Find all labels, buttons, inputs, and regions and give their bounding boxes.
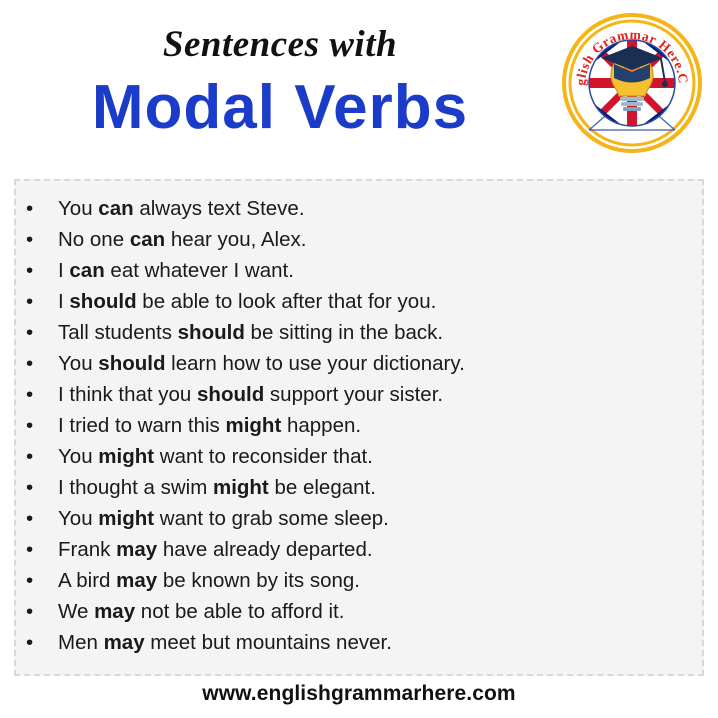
page-title-line2: Modal Verbs xyxy=(0,75,560,140)
sentence-prefix: You xyxy=(58,445,98,468)
sentence-prefix: I thought a swim xyxy=(58,476,213,499)
bullet-icon: • xyxy=(26,503,33,534)
sentence-prefix: I tried to warn this xyxy=(58,414,225,437)
list-item: •You might want to reconsider that. xyxy=(16,441,702,472)
bullet-icon: • xyxy=(26,441,33,472)
bullet-icon: • xyxy=(26,317,33,348)
sentence-suffix: be known by its song. xyxy=(157,569,360,592)
sentence-prefix: No one xyxy=(58,228,130,251)
modal-verb-keyword: should xyxy=(197,383,264,406)
list-item: •Frank may have already departed. xyxy=(16,534,702,565)
list-item: •You can always text Steve. xyxy=(16,193,702,224)
modal-verb-keyword: can xyxy=(130,228,165,251)
sentence-prefix: We xyxy=(58,600,94,623)
bullet-icon: • xyxy=(26,224,33,255)
logo-svg: English Grammar Here.Com xyxy=(561,12,703,154)
modal-verb-keyword: might xyxy=(98,507,154,530)
bullet-icon: • xyxy=(26,255,33,286)
modal-verb-keyword: may xyxy=(94,600,135,623)
sentence-suffix: be able to look after that for you. xyxy=(137,290,437,313)
list-item: •You might want to grab some sleep. xyxy=(16,503,702,534)
modal-verb-keyword: might xyxy=(213,476,269,499)
sentence-suffix: happen. xyxy=(281,414,361,437)
modal-verb-keyword: may xyxy=(116,538,157,561)
list-item: •Men may meet but mountains never. xyxy=(16,627,702,658)
list-item: •No one can hear you, Alex. xyxy=(16,224,702,255)
sentence-list: •You can always text Steve.•No one can h… xyxy=(16,181,702,658)
bullet-icon: • xyxy=(26,627,33,658)
sentences-panel: •You can always text Steve.•No one can h… xyxy=(14,179,704,676)
sentence-suffix: not be able to afford it. xyxy=(135,600,344,623)
list-item: •I can eat whatever I want. xyxy=(16,255,702,286)
sentence-suffix: hear you, Alex. xyxy=(165,228,306,251)
sentence-suffix: have already departed. xyxy=(157,538,372,561)
sentence-prefix: Tall students xyxy=(58,321,178,344)
sentence-suffix: learn how to use your dictionary. xyxy=(165,352,464,375)
sentence-suffix: eat whatever I want. xyxy=(105,259,294,282)
list-item: •We may not be able to afford it. xyxy=(16,596,702,627)
list-item: •I think that you should support your si… xyxy=(16,379,702,410)
sentence-prefix: You xyxy=(58,507,98,530)
bullet-icon: • xyxy=(26,565,33,596)
modal-verb-keyword: may xyxy=(116,569,157,592)
title-block: Sentences with Modal Verbs xyxy=(0,0,560,140)
modal-verb-keyword: should xyxy=(69,290,136,313)
modal-verb-keyword: should xyxy=(98,352,165,375)
sentence-suffix: meet but mountains never. xyxy=(145,631,392,654)
sentence-suffix: be elegant. xyxy=(269,476,376,499)
modal-verb-keyword: might xyxy=(225,414,281,437)
english-grammar-here-logo: English Grammar Here.Com xyxy=(561,12,703,154)
sentence-suffix: always text Steve. xyxy=(134,197,305,220)
sentence-suffix: want to reconsider that. xyxy=(154,445,373,468)
modal-verb-keyword: might xyxy=(98,445,154,468)
modal-verb-keyword: can xyxy=(98,197,133,220)
sentence-prefix: You xyxy=(58,197,98,220)
bullet-icon: • xyxy=(26,348,33,379)
sentence-prefix: Frank xyxy=(58,538,116,561)
page-title-line1: Sentences with xyxy=(0,26,560,63)
bullet-icon: • xyxy=(26,534,33,565)
bullet-icon: • xyxy=(26,410,33,441)
sentence-suffix: want to grab some sleep. xyxy=(154,507,389,530)
sentence-prefix: I xyxy=(58,259,69,282)
sentence-prefix: You xyxy=(58,352,98,375)
sentence-prefix: I xyxy=(58,290,69,313)
bullet-icon: • xyxy=(26,286,33,317)
modal-verb-keyword: can xyxy=(69,259,104,282)
list-item: •I should be able to look after that for… xyxy=(16,286,702,317)
list-item: •You should learn how to use your dictio… xyxy=(16,348,702,379)
list-item: •A bird may be known by its song. xyxy=(16,565,702,596)
modal-verb-keyword: should xyxy=(178,321,245,344)
bullet-icon: • xyxy=(26,472,33,503)
sentence-suffix: be sitting in the back. xyxy=(245,321,443,344)
list-item: •I tried to warn this might happen. xyxy=(16,410,702,441)
footer-url: www.englishgrammarhere.com xyxy=(0,682,718,706)
sentence-prefix: Men xyxy=(58,631,104,654)
list-item: •I thought a swim might be elegant. xyxy=(16,472,702,503)
sentence-prefix: A bird xyxy=(58,569,116,592)
sentence-prefix: I think that you xyxy=(58,383,197,406)
header: Sentences with Modal Verbs xyxy=(0,0,718,170)
list-item: •Tall students should be sitting in the … xyxy=(16,317,702,348)
bullet-icon: • xyxy=(26,379,33,410)
modal-verb-keyword: may xyxy=(104,631,145,654)
bullet-icon: • xyxy=(26,596,33,627)
sentence-suffix: support your sister. xyxy=(264,383,443,406)
bullet-icon: • xyxy=(26,193,33,224)
